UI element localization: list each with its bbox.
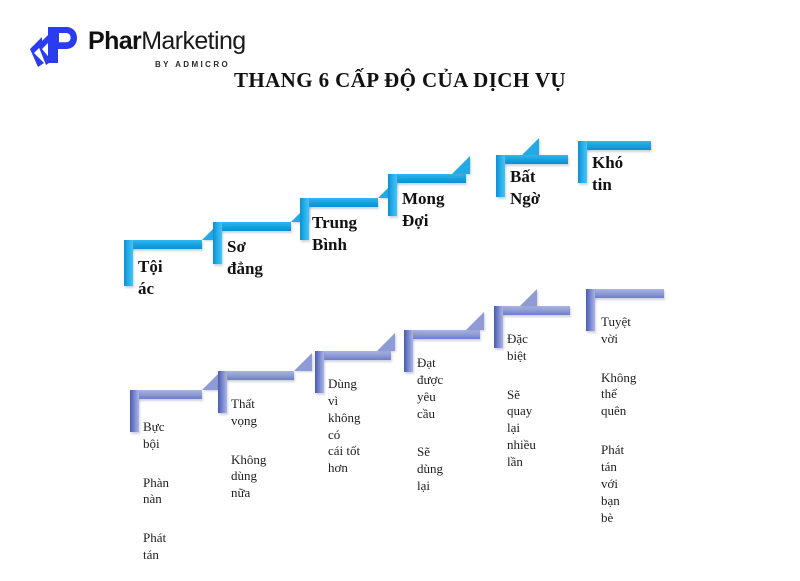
step-riser	[213, 222, 222, 264]
page-title: THANG 6 CẤP ĐỘ CỦA DỊCH VỤ	[0, 68, 800, 93]
lower-step-5-detail: Đặc biệt Sẽ quay lại nhiều lần	[507, 314, 536, 488]
upper-step-4-label: Mong Đợi	[402, 188, 445, 232]
lower-step-1-detail: Bực bội Phàn nàn Phát tán	[143, 402, 169, 581]
phar-layered-p-logo-icon	[28, 21, 78, 69]
upper-step-2-label: Sơ đẳng	[227, 236, 263, 280]
step-riser	[578, 141, 587, 183]
step-riser	[404, 330, 413, 372]
upper-step-5-label: Bất Ngờ	[510, 166, 540, 210]
brand-name-light: Marketing	[141, 27, 245, 55]
step-riser	[494, 306, 503, 348]
step-tread	[130, 390, 202, 399]
step-tread	[388, 174, 466, 183]
step-riser	[315, 351, 324, 393]
detail-line: Phát tán	[143, 530, 169, 564]
step-tread	[578, 141, 651, 150]
upper-step-6-label: Khó tin	[592, 152, 623, 196]
lower-step-3-detail: Dùng vì không có cái tốt hơn	[328, 359, 361, 494]
step-arrowhead-icon	[294, 353, 312, 371]
step-arrowhead-icon	[377, 333, 395, 351]
step-riser	[586, 289, 595, 331]
detail-line: Không dùng nữa	[231, 452, 266, 503]
step-arrowhead-icon	[466, 312, 484, 330]
detail-line: Không thể quên	[601, 370, 636, 421]
detail-line: Phàn nàn	[143, 475, 169, 509]
lower-step-2-detail: Thất vọng Không dùng nữa	[231, 379, 266, 519]
brand-wordmark: PharMarketing	[88, 29, 246, 54]
step-riser	[124, 240, 133, 286]
detail-line: Đạt được yêu cầu	[417, 355, 443, 423]
detail-line: Dùng vì không có cái tốt hơn	[328, 376, 361, 477]
lower-step-6-detail: Tuyệt vời Không thể quên Phát tán với bạ…	[601, 297, 636, 543]
detail-line: Đặc biệt	[507, 331, 536, 365]
step-arrowhead-icon	[452, 156, 470, 174]
step-riser	[496, 155, 505, 197]
step-riser	[218, 371, 227, 413]
header-bar: PharMarketing BY ADMICRO	[0, 0, 800, 78]
detail-line: Sẽ quay lại nhiều lần	[507, 387, 536, 471]
step-tread	[124, 240, 202, 249]
brand-name-bold: Phar	[88, 27, 141, 55]
step-tread	[496, 155, 568, 164]
step-tread	[213, 222, 291, 231]
step-riser	[130, 390, 139, 432]
step-arrowhead-icon	[522, 138, 539, 155]
detail-line: Phát tán với bạn bè	[601, 442, 636, 526]
step-riser	[388, 174, 397, 216]
step-arrowhead-icon	[520, 289, 537, 306]
lower-step-4-detail: Đạt được yêu cầu Sẽ dùng lại	[417, 338, 443, 512]
step-tread	[300, 198, 378, 207]
upper-step-1-label: Tội ác	[138, 256, 163, 300]
detail-line: Tuyệt vời	[601, 314, 636, 348]
step-riser	[300, 198, 309, 240]
detail-line: Bực bội	[143, 419, 169, 453]
upper-step-3-label: Trung Bình	[312, 212, 357, 256]
detail-line: Sẽ dùng lại	[417, 444, 443, 495]
detail-line: Thất vọng	[231, 396, 266, 430]
